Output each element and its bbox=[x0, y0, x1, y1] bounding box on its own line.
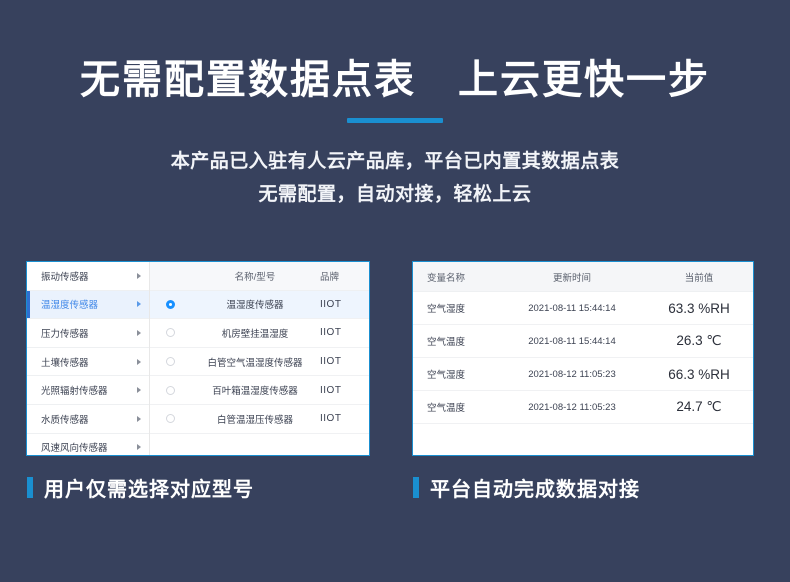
sidebar-item-label: 光照辐射传感器 bbox=[41, 383, 131, 397]
column-header-brand: 品牌 bbox=[320, 269, 368, 283]
model-name: 机房壁挂温湿度 bbox=[190, 326, 320, 340]
variable-data-panel: 变量名称 更新时间 当前值 空气湿度 2021-08-11 15:44:14 6… bbox=[412, 261, 754, 456]
variable-name: 空气湿度 bbox=[413, 301, 499, 315]
radio-icon[interactable] bbox=[166, 414, 175, 423]
chevron-right-icon bbox=[137, 330, 141, 336]
variable-current-value: 66.3 %RH bbox=[645, 367, 753, 382]
category-sidebar[interactable]: 振动传感器 温湿度传感器 压力传感器 土壤传感器 光照辐射传感器 bbox=[27, 262, 150, 455]
radio-icon[interactable] bbox=[166, 357, 175, 366]
table-row[interactable]: 白管温湿压传感器 IIOT bbox=[150, 405, 369, 434]
variable-current-value: 26.3 ℃ bbox=[645, 333, 753, 349]
column-header-current: 当前值 bbox=[645, 270, 753, 284]
row-radio-cell[interactable] bbox=[150, 357, 190, 366]
row-radio-cell[interactable] bbox=[150, 328, 190, 337]
table-row[interactable]: 白管空气温湿度传感器 IIOT bbox=[150, 348, 369, 377]
sidebar-item-label: 水质传感器 bbox=[41, 412, 131, 426]
row-radio-cell[interactable] bbox=[150, 386, 190, 395]
variable-current-value: 63.3 %RH bbox=[645, 301, 753, 316]
chevron-right-icon bbox=[137, 359, 141, 365]
chevron-right-icon bbox=[137, 301, 141, 307]
sidebar-item-label: 温湿度传感器 bbox=[41, 297, 131, 311]
variable-updated-time: 2021-08-11 15:44:14 bbox=[499, 303, 645, 314]
table-row[interactable]: 温湿度传感器 IIOT bbox=[150, 291, 369, 320]
row-radio-cell[interactable] bbox=[150, 414, 190, 423]
sidebar-item-illumination[interactable]: 光照辐射传感器 bbox=[27, 376, 149, 405]
radio-selected-icon[interactable] bbox=[166, 300, 175, 309]
chevron-right-icon bbox=[137, 273, 141, 279]
accent-bar-icon bbox=[413, 477, 419, 498]
sidebar-item-wind[interactable]: 风速风向传感器 bbox=[27, 434, 149, 456]
caption-right-label: 平台自动完成数据对接 bbox=[430, 473, 640, 502]
radio-icon[interactable] bbox=[166, 328, 175, 337]
model-name: 白管空气温湿度传感器 bbox=[190, 355, 320, 369]
sidebar-item-pressure[interactable]: 压力传感器 bbox=[27, 319, 149, 348]
model-brand: IIOT bbox=[320, 356, 368, 367]
model-name: 百叶箱温湿度传感器 bbox=[190, 383, 320, 397]
variable-updated-time: 2021-08-11 15:44:14 bbox=[499, 336, 645, 347]
table-row: 空气温度 2021-08-12 11:05:23 24.7 ℃ bbox=[413, 391, 753, 424]
table-row: 空气温度 2021-08-11 15:44:14 26.3 ℃ bbox=[413, 325, 753, 358]
table-row: 空气湿度 2021-08-11 15:44:14 63.3 %RH bbox=[413, 292, 753, 325]
accent-bar-icon bbox=[27, 477, 33, 498]
column-header-name: 名称/型号 bbox=[190, 269, 320, 283]
table-row: 空气湿度 2021-08-12 11:05:23 66.3 %RH bbox=[413, 358, 753, 391]
model-table-header: 名称/型号 品牌 bbox=[150, 262, 369, 291]
model-brand: IIOT bbox=[320, 413, 368, 424]
hero-subtitle-line-2: 无需配置，自动对接，轻松上云 bbox=[0, 178, 790, 211]
variable-updated-time: 2021-08-12 11:05:23 bbox=[499, 402, 645, 413]
hero-section: 无需配置数据点表 上云更快一步 本产品已入驻有人云产品库，平台已内置其数据点表 … bbox=[0, 0, 790, 212]
sidebar-item-label: 压力传感器 bbox=[41, 326, 131, 340]
promo-page: { "hero": { "title": "无需配置数据点表 上云更快一步", … bbox=[0, 0, 790, 582]
model-brand: IIOT bbox=[320, 327, 368, 338]
model-brand: IIOT bbox=[320, 385, 368, 396]
product-selection-panel: 振动传感器 温湿度传感器 压力传感器 土壤传感器 光照辐射传感器 bbox=[26, 261, 370, 456]
variable-name: 空气温度 bbox=[413, 334, 499, 348]
chevron-right-icon bbox=[137, 444, 141, 450]
page-title: 无需配置数据点表 上云更快一步 bbox=[0, 56, 790, 104]
hero-subtitle-line-1: 本产品已入驻有人云产品库，平台已内置其数据点表 bbox=[0, 145, 790, 178]
screenshot-panels: 振动传感器 温湿度传感器 压力传感器 土壤传感器 光照辐射传感器 bbox=[0, 258, 790, 458]
model-name: 温湿度传感器 bbox=[190, 297, 320, 311]
table-row[interactable]: 百叶箱温湿度传感器 IIOT bbox=[150, 376, 369, 405]
sidebar-item-label: 风速风向传感器 bbox=[41, 440, 131, 454]
variable-table-header: 变量名称 更新时间 当前值 bbox=[413, 262, 753, 292]
row-radio-cell[interactable] bbox=[150, 300, 190, 309]
column-header-variable: 变量名称 bbox=[413, 270, 499, 284]
sidebar-item-soil[interactable]: 土壤传感器 bbox=[27, 348, 149, 377]
sidebar-item-water-quality[interactable]: 水质传感器 bbox=[27, 405, 149, 434]
title-underline bbox=[347, 118, 443, 123]
hero-subtitle: 本产品已入驻有人云产品库，平台已内置其数据点表 无需配置，自动对接，轻松上云 bbox=[0, 145, 790, 212]
variable-name: 空气温度 bbox=[413, 400, 499, 414]
sidebar-item-temp-humidity[interactable]: 温湿度传感器 bbox=[27, 291, 149, 320]
model-table: 名称/型号 品牌 温湿度传感器 IIOT 机房壁挂温湿度 IIOT 白管空气温湿… bbox=[150, 262, 369, 455]
column-header-updated: 更新时间 bbox=[499, 270, 645, 284]
variable-current-value: 24.7 ℃ bbox=[645, 399, 753, 415]
variable-name: 空气湿度 bbox=[413, 367, 499, 381]
caption-left: 用户仅需选择对应型号 bbox=[27, 473, 254, 502]
sidebar-item-vibration[interactable]: 振动传感器 bbox=[27, 262, 149, 291]
variable-table: 变量名称 更新时间 当前值 空气湿度 2021-08-11 15:44:14 6… bbox=[413, 262, 753, 455]
caption-row: 用户仅需选择对应型号 平台自动完成数据对接 bbox=[0, 473, 790, 513]
radio-icon[interactable] bbox=[166, 386, 175, 395]
caption-right: 平台自动完成数据对接 bbox=[413, 473, 640, 502]
sidebar-item-label: 振动传感器 bbox=[41, 269, 131, 283]
model-name: 白管温湿压传感器 bbox=[190, 412, 320, 426]
chevron-right-icon bbox=[137, 387, 141, 393]
model-brand: IIOT bbox=[320, 299, 368, 310]
caption-left-label: 用户仅需选择对应型号 bbox=[44, 473, 254, 502]
table-row[interactable]: 机房壁挂温湿度 IIOT bbox=[150, 319, 369, 348]
variable-updated-time: 2021-08-12 11:05:23 bbox=[499, 369, 645, 380]
chevron-right-icon bbox=[137, 416, 141, 422]
sidebar-item-label: 土壤传感器 bbox=[41, 355, 131, 369]
